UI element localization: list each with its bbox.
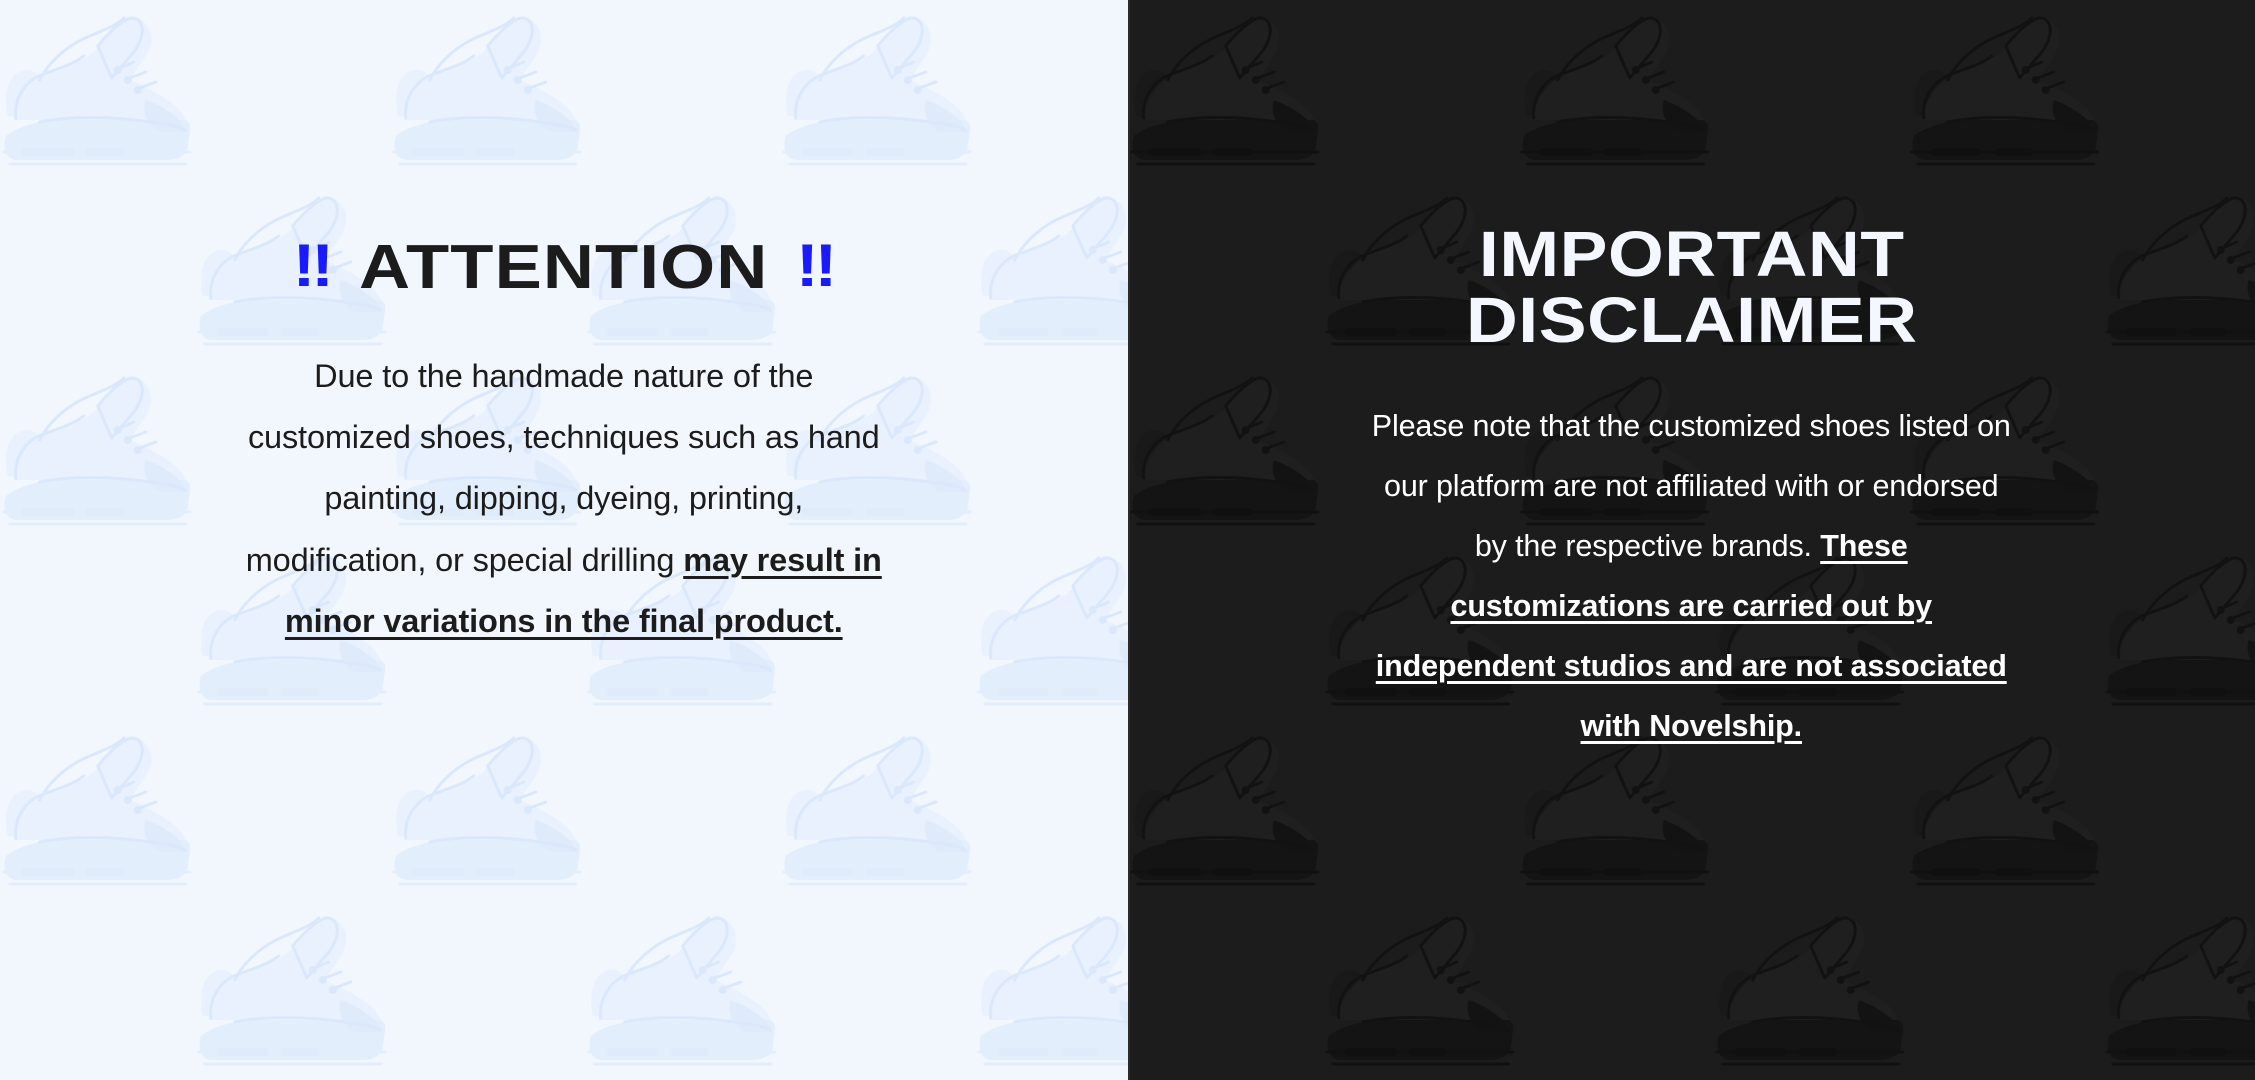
disclaimer-heading-line2: DISCLAIMER bbox=[1465, 284, 1917, 356]
attention-panel: ‼ATTENTION‼ Due to the handmade nature o… bbox=[0, 0, 1128, 1080]
disclaimer-heading: IMPORTANT DISCLAIMER bbox=[1128, 222, 2255, 354]
customs-notice-banner: ‼ATTENTION‼ Due to the handmade nature o… bbox=[0, 0, 2255, 1080]
disclaimer-panel: IMPORTANT DISCLAIMER Please note that th… bbox=[1128, 0, 2255, 1080]
attention-heading: ‼ATTENTION‼ bbox=[0, 236, 1128, 299]
attention-heading-text: ATTENTION bbox=[359, 233, 768, 302]
panel-divider bbox=[1128, 0, 1130, 1080]
attention-body-text: Due to the handmade nature of the custom… bbox=[234, 346, 894, 651]
disclaimer-body-text: Please note that the customized shoes li… bbox=[1371, 396, 2011, 756]
attention-content: ‼ATTENTION‼ Due to the handmade nature o… bbox=[0, 0, 1128, 652]
double-exclamation-left-icon: ‼ bbox=[293, 235, 332, 296]
double-exclamation-right-icon: ‼ bbox=[796, 235, 835, 296]
disclaimer-body-normal: Please note that the customized shoes li… bbox=[1372, 409, 2011, 563]
disclaimer-content: IMPORTANT DISCLAIMER Please note that th… bbox=[1128, 0, 2255, 756]
disclaimer-heading-line1: IMPORTANT bbox=[1478, 218, 1904, 290]
